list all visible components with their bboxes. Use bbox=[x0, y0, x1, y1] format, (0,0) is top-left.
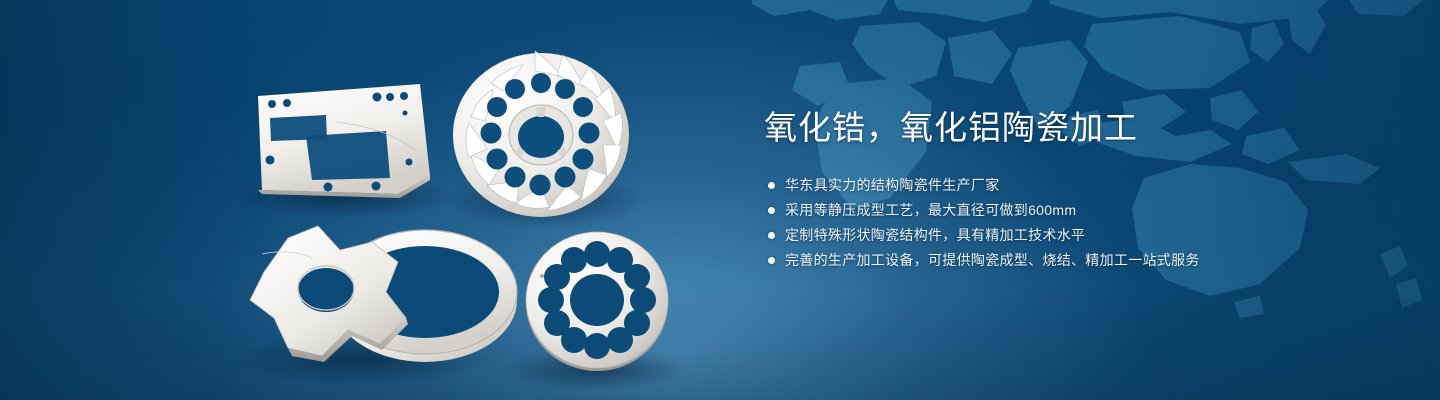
hero-banner: 氧化锆，氧化铝陶瓷加工 华东具实力的结构陶瓷件生产厂家 采用等静压成型工艺，最大… bbox=[0, 0, 1440, 400]
bullet-dot-icon bbox=[768, 207, 775, 214]
list-item: 完善的生产加工设备，可提供陶瓷成型、烧结、精加工一站式服务 bbox=[764, 249, 1384, 271]
banner-copy: 氧化锆，氧化铝陶瓷加工 华东具实力的结构陶瓷件生产厂家 采用等静压成型工艺，最大… bbox=[764, 108, 1384, 274]
list-item: 华东具实力的结构陶瓷件生产厂家 bbox=[764, 174, 1384, 196]
bullet-dot-icon bbox=[768, 232, 775, 239]
feature-list: 华东具实力的结构陶瓷件生产厂家 采用等静压成型工艺，最大直径可做到600mm 定… bbox=[764, 174, 1384, 271]
bullet-dot-icon bbox=[768, 257, 775, 264]
feature-text: 完善的生产加工设备，可提供陶瓷成型、烧结、精加工一站式服务 bbox=[785, 249, 1200, 271]
feature-text: 华东具实力的结构陶瓷件生产厂家 bbox=[785, 174, 1000, 196]
page-title: 氧化锆，氧化铝陶瓷加工 bbox=[764, 108, 1384, 148]
bullet-dot-icon bbox=[768, 182, 775, 189]
feature-text: 采用等静压成型工艺，最大直径可做到600mm bbox=[785, 199, 1076, 221]
feature-text: 定制特殊形状陶瓷结构件，具有精加工技术水平 bbox=[785, 224, 1085, 246]
list-item: 采用等静压成型工艺，最大直径可做到600mm bbox=[764, 199, 1384, 221]
list-item: 定制特殊形状陶瓷结构件，具有精加工技术水平 bbox=[764, 224, 1384, 246]
